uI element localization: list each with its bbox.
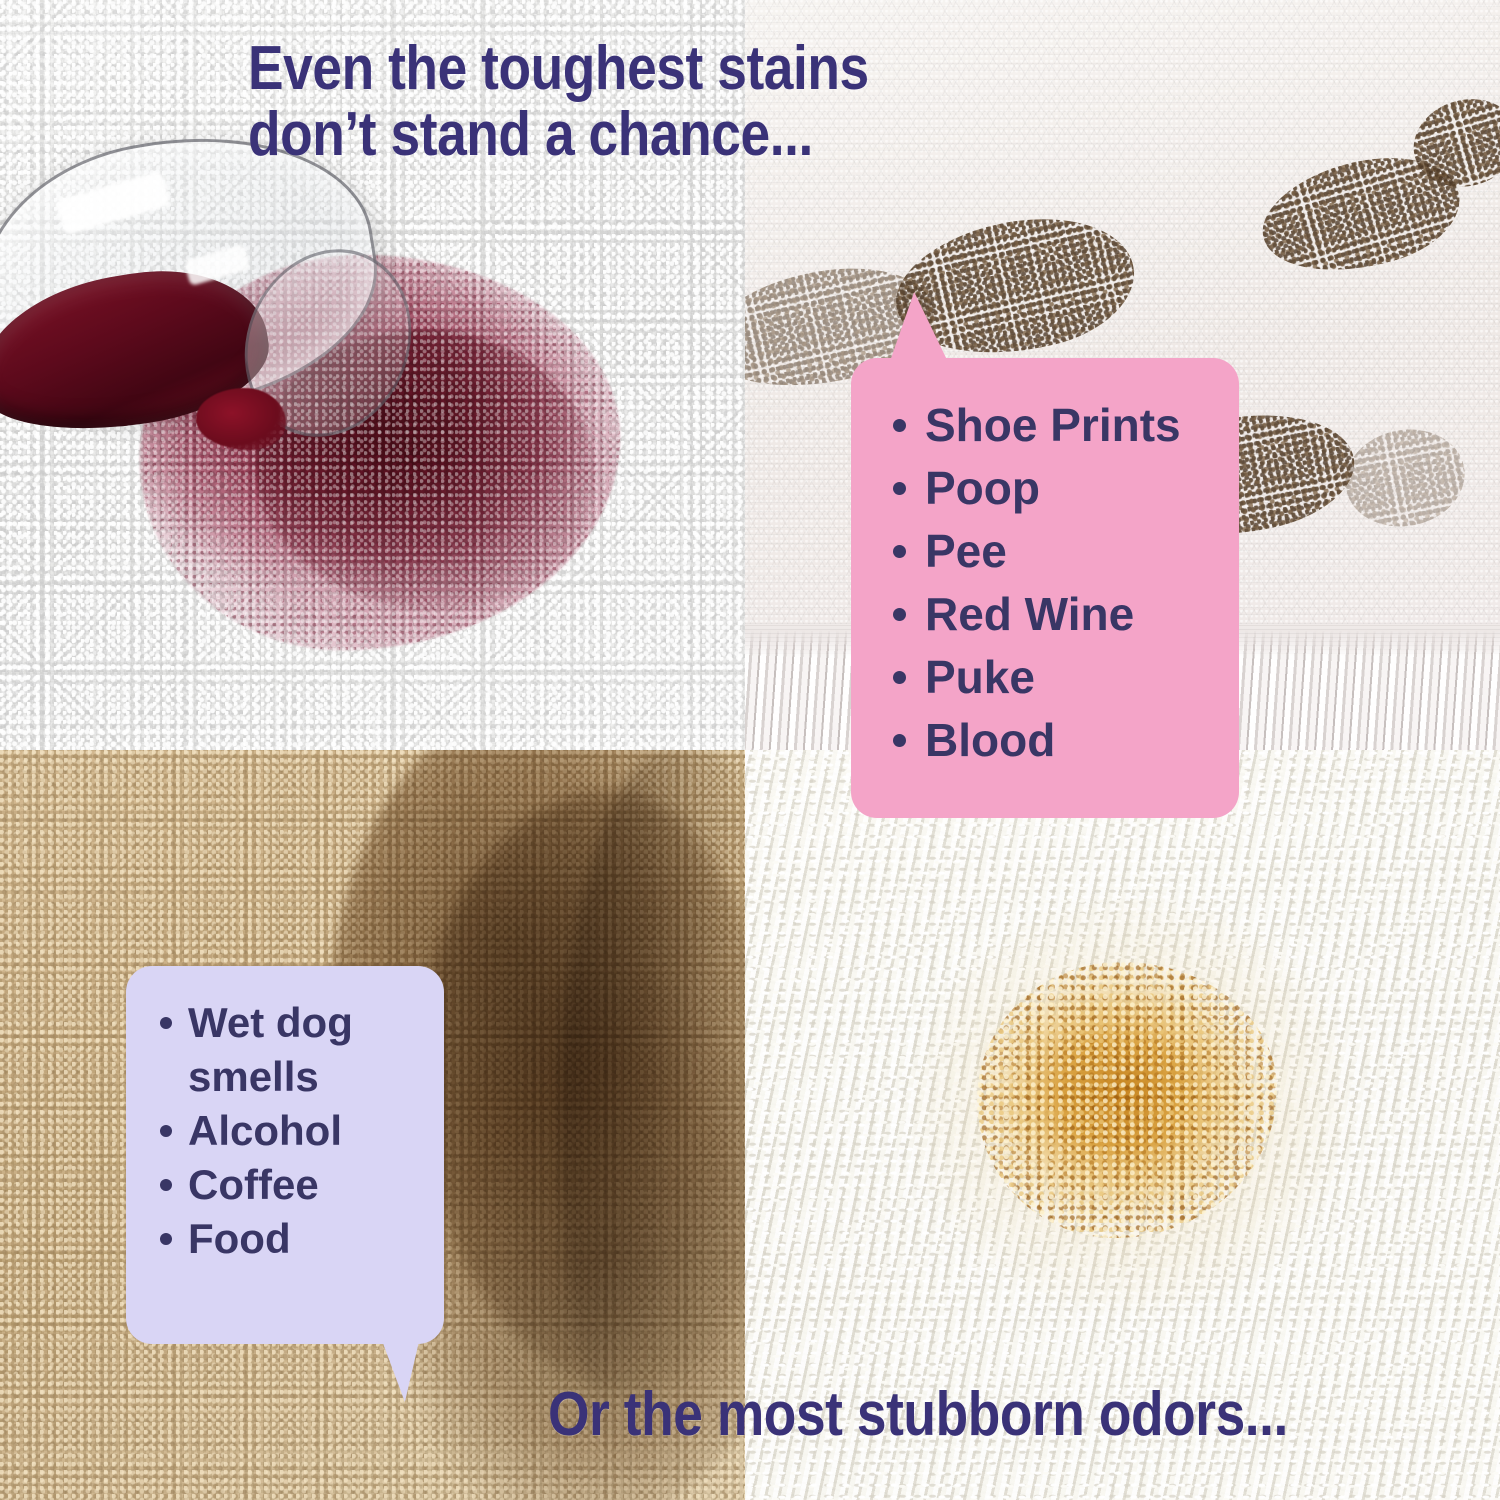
list-item: Blood <box>893 709 1239 772</box>
bullet-icon <box>893 482 906 495</box>
bullet-icon <box>160 1125 172 1137</box>
bullet-icon <box>893 419 906 432</box>
stains-list-label: Shoe Prints <box>925 394 1181 457</box>
bullet-icon <box>893 734 906 747</box>
list-item: Poop <box>893 457 1239 520</box>
list-item: Red Wine <box>893 583 1239 646</box>
bullet-icon <box>160 1233 172 1245</box>
odors-callout-bubble: Wet dog smells Alcohol Coffee Food <box>126 966 444 1344</box>
bullet-icon <box>160 1179 172 1191</box>
list-item: Food <box>160 1212 444 1266</box>
bullet-icon <box>160 1017 172 1029</box>
headline-top: Even the toughest stains don’t stand a c… <box>248 36 869 167</box>
list-item: Shoe Prints <box>893 394 1239 457</box>
bullet-icon <box>893 671 906 684</box>
list-item: Wet dog smells <box>160 996 444 1104</box>
list-item: Coffee <box>160 1158 444 1212</box>
stains-list-label: Puke <box>925 646 1035 709</box>
odors-list-label: Wet dog smells <box>188 996 444 1104</box>
stains-list-label: Blood <box>925 709 1055 772</box>
odors-list-label: Coffee <box>188 1158 319 1212</box>
odors-list-label: Food <box>188 1212 291 1266</box>
stains-callout-bubble: Shoe Prints Poop Pee Red Wine Puke Blood <box>851 358 1239 818</box>
list-item: Alcohol <box>160 1104 444 1158</box>
headline-bottom: Or the most stubborn odors... <box>548 1382 1288 1448</box>
stains-list-label: Poop <box>925 457 1040 520</box>
bullet-icon <box>893 608 906 621</box>
stains-list-label: Pee <box>925 520 1007 583</box>
list-item: Puke <box>893 646 1239 709</box>
odors-list: Wet dog smells Alcohol Coffee Food <box>126 966 444 1266</box>
stains-list-label: Red Wine <box>925 583 1134 646</box>
stains-list: Shoe Prints Poop Pee Red Wine Puke Blood <box>851 358 1239 772</box>
odors-list-label: Alcohol <box>188 1104 342 1158</box>
bullet-icon <box>893 545 906 558</box>
product-infographic: Even the toughest stains don’t stand a c… <box>0 0 1500 1500</box>
list-item: Pee <box>893 520 1239 583</box>
